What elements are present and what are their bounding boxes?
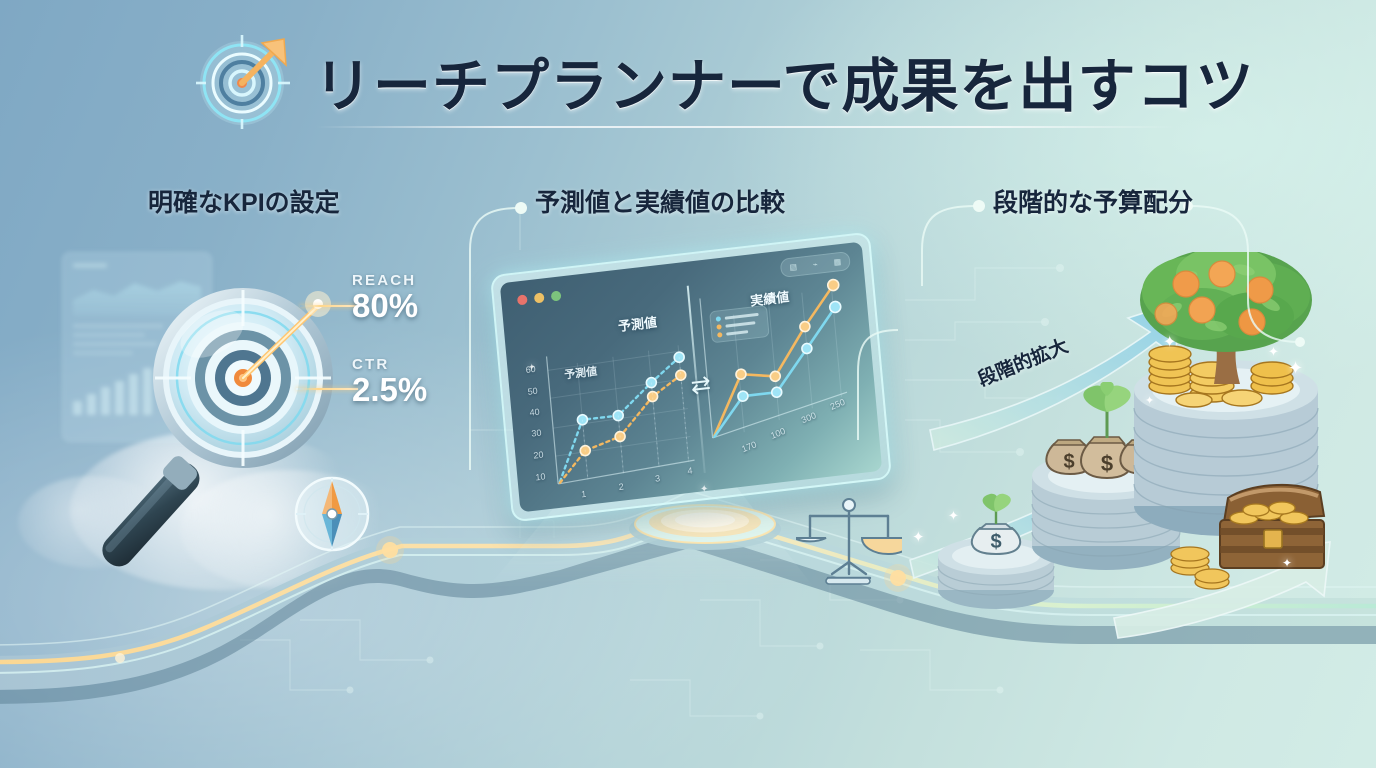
section-heading-compare: 予測値と実績値の比較: [535, 183, 785, 219]
title-bar: リーチプランナーで成果を出すコツ: [196, 22, 1196, 140]
infographic-canvas: REACH 80% CTR 2.5% ▤ ⌁ ▦ 予測値 予測値 60 50 4…: [0, 0, 1376, 768]
section-heading-kpi: 明確なKPIの設定: [148, 183, 340, 219]
page-title: リーチプランナーで成果を出すコツ: [314, 39, 1255, 123]
section-heading-budget: 段階的な予算配分: [993, 183, 1193, 219]
title-divider: [316, 126, 1176, 128]
target-arrow-icon: [196, 33, 292, 129]
